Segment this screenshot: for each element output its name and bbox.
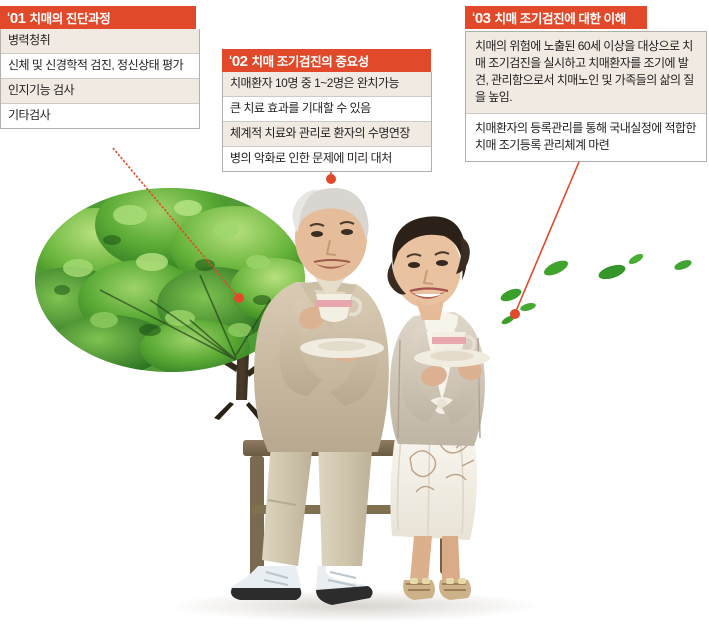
man-head	[292, 188, 368, 281]
woman-hand-right	[456, 357, 484, 382]
list-item: 병의 악화로 인한 문제에 미리 대처	[223, 147, 431, 171]
infobox-01-body: 병력청취 신체 및 신경학적 검진, 정신상태 평가 인지기능 검사 기타검사	[0, 29, 200, 129]
man-figure	[230, 188, 389, 605]
man-shoes	[230, 566, 373, 605]
ground-shadow	[170, 590, 540, 622]
floating-leaves	[499, 252, 693, 326]
list-item: 체계적 치료와 관리로 환자의 수명연장	[223, 122, 431, 147]
infobox-01-number: ‘01	[7, 10, 26, 27]
connector-box1-line	[113, 148, 237, 296]
list-item: 큰 치료 효과를 기대할 수 있음	[223, 97, 431, 122]
infobox-02-body: 치매환자 10명 중 1~2명은 완치가능 큰 치료 효과를 기대할 수 있음 …	[222, 72, 432, 172]
woman-teacup	[432, 332, 474, 358]
infographic-page: ‘01치매의 진단과정 병력청취 신체 및 신경학적 검진, 정신상태 평가 인…	[0, 0, 709, 629]
woman-figure	[387, 216, 490, 600]
list-item: 신체 및 신경학적 검진, 정신상태 평가	[1, 54, 199, 79]
woman-saucer	[414, 349, 490, 367]
infobox-01: ‘01치매의 진단과정 병력청취 신체 및 신경학적 검진, 정신상태 평가 인…	[0, 6, 200, 129]
list-item: 인지기능 검사	[1, 79, 199, 104]
woman-head	[387, 216, 469, 308]
man-teacup	[316, 294, 360, 322]
list-item: 치매환자 10명 중 1~2명은 완치가능	[223, 72, 431, 97]
man-hand-left	[330, 340, 361, 365]
infobox-03-title: 치매 조기검진에 대한 이해	[495, 12, 626, 26]
list-item: 기타검사	[1, 104, 199, 128]
connector-box2-dot	[326, 174, 336, 184]
connector-box1-dot	[234, 293, 244, 303]
infobox-03-number: ‘03	[472, 10, 491, 27]
man-hand-right	[296, 304, 328, 333]
man-saucer	[300, 338, 384, 358]
infobox-02-title: 치매 조기검진의 중요성	[252, 55, 369, 69]
woman-hand-left	[419, 364, 449, 389]
infobox-03-header: ‘03치매 조기검진에 대한 이해	[465, 6, 647, 29]
infobox-02-number: ‘02	[229, 53, 248, 70]
paragraph: 치매의 위험에 노출된 60세 이상을 대상으로 치매 조기검진을 실시하고 치…	[466, 32, 706, 114]
infobox-03: ‘03치매 조기검진에 대한 이해 치매의 위험에 노출된 60세 이상을 대상…	[465, 6, 707, 162]
list-item: 병력청취	[1, 29, 199, 54]
tree-graphic	[15, 179, 320, 423]
infobox-02: ‘02치매 조기검진의 중요성 치매환자 10명 중 1~2명은 완치가능 큰 …	[222, 49, 432, 172]
infobox-02-header: ‘02치매 조기검진의 중요성	[222, 49, 431, 72]
infobox-01-header: ‘01치매의 진단과정	[0, 6, 196, 29]
infobox-01-title: 치매의 진단과정	[30, 12, 111, 26]
bench	[243, 440, 466, 578]
connector-box3-line	[516, 150, 584, 311]
connector-box3-dot	[510, 309, 520, 319]
paragraph: 치매환자의 등록관리를 통해 국내실정에 적합한 치매 조기등록 관리체계 마련	[466, 114, 706, 161]
woman-sandals	[403, 578, 471, 600]
infobox-03-body: 치매의 위험에 노출된 60세 이상을 대상으로 치매 조기검진을 실시하고 치…	[465, 31, 707, 162]
